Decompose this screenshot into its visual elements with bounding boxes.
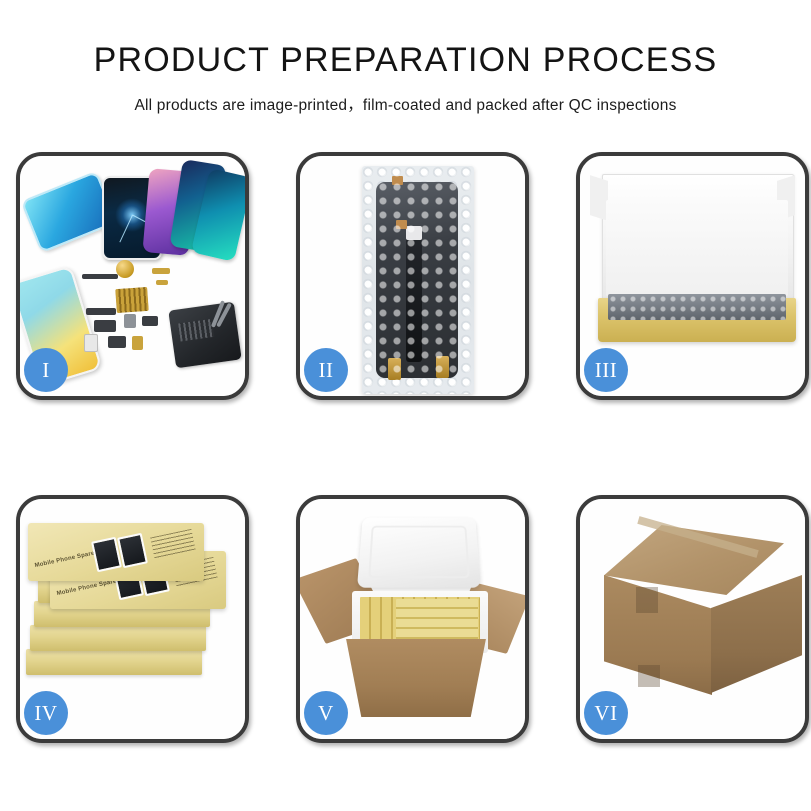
gold-contact-right-icon [436, 356, 449, 378]
connector-icon [406, 226, 422, 240]
step-badge-2: II [304, 348, 348, 392]
bubble-wrap-icon [362, 166, 474, 394]
step-panel-2: II [296, 152, 529, 400]
page-subtitle: All products are image-printed，film-coat… [0, 93, 811, 115]
step-panel-4: Mobile Phone Spare Parts Mobile Phone Sp… [16, 495, 249, 743]
box-thumb-d-icon [117, 533, 148, 569]
part-camera-icon [142, 316, 158, 326]
gold-coin-part-icon [116, 260, 134, 278]
part-cable-icon [86, 308, 116, 315]
part-gold-small-icon [156, 280, 168, 285]
step-badge-3: III [584, 348, 628, 392]
step-badge-6: VI [584, 691, 628, 735]
step-panel-3: III [576, 152, 809, 400]
gold-contact-left-icon [388, 358, 401, 380]
box-spec-lines-top-icon [150, 529, 196, 559]
flex-cable-icon [406, 238, 422, 362]
bubble-wrapped-contents-icon [608, 294, 786, 320]
tape-tab-mid-icon [396, 220, 407, 229]
part-speaker-icon [108, 336, 126, 348]
step-panel-1: I [16, 152, 249, 400]
part-sim-tray-icon [84, 334, 98, 352]
part-gold-flex-icon [152, 268, 170, 274]
stacked-box-4-icon [30, 625, 206, 651]
foam-sheet-icon [606, 200, 788, 296]
page-title: PRODUCT PREPARATION PROCESS [0, 42, 811, 79]
tape-tab-top-icon [392, 176, 403, 185]
outer-carton-icon [340, 639, 492, 717]
carton-seam-lower-icon [638, 665, 660, 687]
step-badge-1: I [24, 348, 68, 392]
part-connector-icon [132, 336, 143, 350]
packed-boxes-stack-icon [396, 599, 478, 645]
step-panel-6: VI [576, 495, 809, 743]
infographic-page: PRODUCT PREPARATION PROCESS All products… [0, 0, 811, 811]
part-module-icon [94, 320, 116, 332]
process-steps-grid: I II [16, 152, 795, 743]
part-bracket-icon [124, 314, 136, 328]
stacked-box-bottom-icon [26, 649, 202, 675]
step-panel-5: V [296, 495, 529, 743]
carton-seam-upper-icon [636, 587, 658, 613]
retail-box-top-icon: Mobile Phone Spare Parts [28, 523, 204, 581]
step-badge-5: V [304, 691, 348, 735]
step-badge-4: IV [24, 691, 68, 735]
chip-array-icon [115, 287, 149, 313]
foam-cooler-lid-icon [357, 518, 481, 588]
part-strip-icon [82, 274, 118, 279]
logic-board-icon [168, 302, 241, 369]
header: PRODUCT PREPARATION PROCESS All products… [0, 0, 811, 115]
